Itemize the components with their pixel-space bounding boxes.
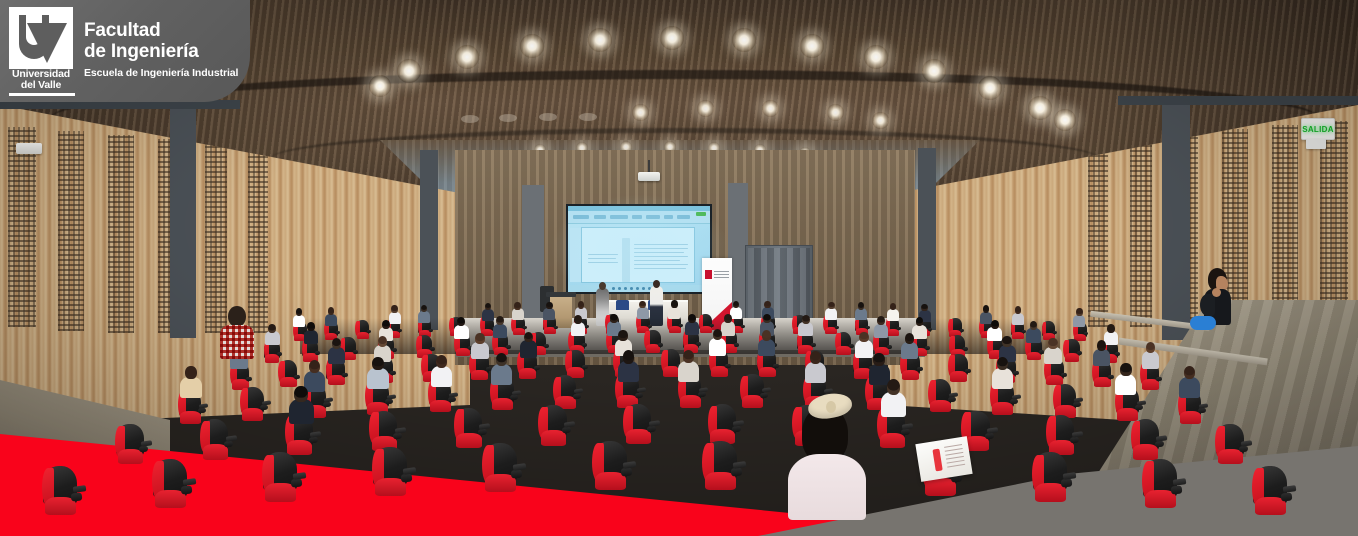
chair-writing-tablet (324, 397, 334, 402)
chair-writing-tablet (1011, 395, 1021, 400)
audience-member-torso (482, 309, 494, 321)
chair-writing-tablet (386, 395, 396, 400)
auditorium-chair (699, 314, 712, 334)
chair-arm (887, 345, 893, 349)
auditorium-chair (241, 387, 264, 422)
audience-member-torso (678, 361, 699, 382)
auditorium-chair (1064, 339, 1080, 363)
chair-seat (992, 402, 1013, 415)
audience-member-head (610, 314, 618, 323)
chair-seat (626, 429, 651, 444)
chair-arm (554, 325, 559, 328)
exit-sign-label: SALIDA (1302, 125, 1334, 134)
chair-arm (534, 366, 541, 371)
chair-arm (773, 364, 780, 369)
chair-arm (367, 330, 372, 333)
ceiling-lamp (978, 76, 1002, 100)
audience-member-head (309, 360, 320, 373)
chair-writing-tablet (1241, 440, 1252, 446)
audience-member-head (858, 302, 865, 310)
acoustic-panel (1130, 137, 1152, 327)
attendee-hand (1212, 288, 1221, 297)
chair-arm (1061, 479, 1073, 488)
audience-member-torso (491, 364, 512, 385)
attendee-legs (1190, 316, 1216, 330)
chair-arm (308, 436, 318, 443)
audience-member-torso (512, 308, 524, 320)
auditorium-chair (483, 443, 516, 494)
chair-arm (731, 467, 743, 476)
univalle-uv-logo-icon: Universidad del Valle (5, 7, 79, 95)
chair-arm (1010, 399, 1018, 405)
auditorium-chair (703, 441, 736, 492)
audience-member-head (496, 316, 504, 325)
audience-member-torso (874, 324, 888, 338)
banner-logo-icon (705, 270, 712, 279)
attendee-head (228, 306, 246, 327)
logo-v-shape (27, 23, 67, 63)
auditorium-chair (709, 404, 736, 446)
audience-member-head (496, 353, 507, 366)
audience-member-head (307, 322, 315, 331)
audience-member-head (1048, 338, 1057, 349)
chair-seat (669, 326, 681, 333)
chair-writing-tablet (733, 461, 747, 468)
ceiling-lamp (588, 28, 612, 52)
audience-member-head (1015, 306, 1022, 314)
audience-member-head (623, 350, 634, 363)
acoustic-panel (1320, 121, 1348, 329)
chair-writing-tablet (310, 431, 321, 437)
auditorium-chair (43, 466, 76, 517)
audience-member-head (1076, 308, 1083, 316)
chair-arm (866, 326, 871, 329)
audience-member-torso (637, 307, 649, 319)
chair-seat (680, 395, 701, 408)
chair-writing-tablet (449, 392, 459, 397)
audience-member-head (764, 301, 771, 309)
chair-arm (477, 429, 487, 436)
ceiling-vent (579, 113, 597, 121)
audience-member-torso (304, 330, 318, 344)
chair-arm (928, 327, 933, 330)
audience-member-torso (328, 347, 345, 364)
audience-member-head (983, 305, 990, 313)
chair-arm (291, 479, 303, 488)
audience-member-head (618, 330, 627, 341)
chair-writing-tablet (1136, 400, 1146, 405)
audience-member-torso (571, 322, 585, 336)
ceiling-lamp (455, 45, 479, 69)
chair-arm (635, 392, 643, 398)
chair-arm (198, 408, 206, 414)
chair-seat (430, 400, 451, 413)
audience-member-torso (1026, 328, 1040, 342)
audience-member-head (372, 357, 383, 370)
chair-writing-tablet (733, 420, 744, 426)
audience-member-head (185, 366, 196, 379)
audience-member-head (294, 386, 308, 402)
projected-sidebar (570, 228, 581, 282)
auditorium-chair (539, 405, 566, 447)
chair-arm (573, 393, 581, 399)
auditorium-chair (741, 374, 764, 409)
audience-member-head (382, 320, 390, 329)
audience-member-torso (293, 315, 305, 327)
chair-arm (760, 392, 768, 398)
audience-member-head (873, 353, 884, 366)
audience-member-head (763, 314, 771, 323)
logo-square (9, 7, 73, 69)
audience-member-torso (881, 392, 906, 417)
chair-seat (902, 370, 919, 380)
acoustic-panel (1272, 125, 1298, 329)
audience-member-torso (289, 399, 314, 424)
chair-arm (1073, 402, 1081, 408)
chair-writing-tablet (261, 400, 271, 405)
auditorium-chair (1047, 415, 1074, 457)
chair-writing-tablet (403, 467, 417, 474)
auditorium-chair (1132, 419, 1159, 461)
chair-arm (963, 347, 969, 351)
chair-writing-tablet (513, 463, 527, 470)
audience-member-torso (855, 308, 867, 320)
audience-member-head (1002, 336, 1011, 347)
auditorium-chair (116, 424, 143, 466)
auditorium-chair (455, 408, 482, 450)
ceiling-lamp (632, 104, 649, 121)
auditorium-chair (1253, 466, 1286, 517)
exit-sign: SALIDA (1301, 118, 1335, 140)
projection-screen-surface (568, 206, 710, 292)
attendee-with-hair-bow (782, 392, 872, 522)
audience-member-head (887, 379, 901, 395)
chair-arm (1053, 331, 1058, 334)
ceiling-lamp (1054, 109, 1076, 131)
audience-member-head (378, 336, 387, 347)
chair-arm (315, 351, 321, 355)
audience-member-torso (825, 308, 837, 320)
chair-arm (511, 469, 523, 478)
chair-arm (731, 426, 741, 433)
chair-arm (1239, 445, 1249, 452)
ceiling-lamp (660, 26, 684, 50)
audience-member-head (802, 315, 810, 324)
audience-member-torso (520, 340, 537, 357)
chair-writing-tablet (394, 427, 405, 433)
chair-arm (506, 345, 512, 349)
chair-arm (1154, 441, 1164, 448)
audience-member-torso (1179, 377, 1200, 398)
audience-member-head (1146, 342, 1155, 353)
chair-arm (181, 485, 193, 494)
chair-seat (519, 368, 536, 378)
chair-arm (398, 329, 403, 332)
chair-arm (294, 375, 301, 380)
audience-member-torso (869, 364, 890, 385)
auditorium-chair (645, 330, 661, 354)
chair-arm (260, 405, 268, 411)
ceiling-lamp (732, 28, 756, 52)
audience-member-torso (987, 327, 1001, 341)
audience-member-torso (758, 339, 775, 356)
audience-member-head (1030, 321, 1038, 330)
ceiling-lamp (397, 59, 421, 83)
audience-member-torso (180, 377, 201, 398)
chair-arm (562, 427, 572, 434)
chair-arm (741, 324, 746, 327)
audience-member-head (296, 308, 303, 316)
auditorium-chair (263, 452, 296, 503)
audience-member-head (724, 314, 732, 323)
ceiling-lamp (369, 75, 391, 97)
university-name-line2: del Valle (5, 80, 77, 91)
chair-arm (581, 365, 588, 370)
chair-seat (180, 411, 201, 424)
auditorium-chair (836, 332, 852, 356)
audience-member-head (905, 333, 914, 344)
chair-writing-tablet (648, 420, 659, 426)
auditorium-chair (201, 419, 228, 461)
audience-member-head (457, 317, 465, 326)
chair-arm (848, 344, 854, 348)
audience-member-torso (543, 308, 555, 320)
ceiling-lamp (762, 100, 779, 117)
audience-member-torso (325, 314, 337, 326)
chair-writing-tablet (1074, 397, 1084, 402)
audience-member-torso (454, 325, 468, 339)
audience-member-torso (1073, 315, 1085, 327)
audience-member-head (991, 320, 999, 329)
chair-arm (698, 392, 706, 398)
chair-arm (1060, 372, 1067, 377)
audience-member-torso (431, 366, 452, 387)
audience-member-head (733, 301, 740, 309)
audience-member-head (391, 305, 398, 313)
chair-arm (959, 328, 964, 331)
chair-arm (585, 325, 590, 328)
faculty-title-line1: Facultad (84, 20, 238, 41)
audience-member-head (1097, 340, 1106, 351)
ceiling-lamp (1028, 96, 1052, 120)
seated-attendee-right-aisle (1196, 268, 1236, 348)
chair-arm (810, 343, 816, 347)
chair-writing-tablet (225, 435, 236, 441)
audience-member-torso (805, 362, 826, 383)
audience-member-torso (471, 342, 488, 359)
chair-writing-tablet (1199, 403, 1209, 408)
chair-seat (357, 332, 369, 339)
faculty-header-plaque: Universidad del Valle Facultad de Ingeni… (0, 0, 250, 102)
chair-writing-tablet (141, 440, 152, 446)
chair-arm (835, 325, 840, 328)
school-subtitle: Escuela de Ingeniería Industrial (84, 67, 238, 79)
hair-bow-knot (826, 401, 836, 413)
audience-member-head (997, 357, 1008, 370)
chair-arm (734, 342, 740, 346)
seated-attendee-left-aisle (218, 306, 258, 368)
ceiling-lamp (864, 45, 888, 69)
chair-writing-tablet (564, 421, 575, 427)
audience-member-torso (265, 331, 279, 345)
chair-arm (1171, 485, 1183, 494)
chair-writing-tablet (987, 427, 998, 433)
chair-arm (246, 377, 253, 382)
ceiling-vent (539, 113, 557, 121)
chair-writing-tablet (623, 461, 637, 468)
chair-arm (429, 347, 435, 351)
audience-member-head (828, 302, 835, 310)
projected-ribbon (568, 211, 710, 224)
chair-arm (1012, 370, 1019, 375)
chair-arm (901, 429, 911, 436)
chair-arm (647, 324, 652, 327)
chair-arm (948, 397, 956, 403)
chair-arm (401, 473, 413, 482)
chair-arm (1135, 405, 1143, 411)
chair-arm (429, 328, 434, 331)
audience-member-torso (389, 312, 401, 324)
chair-arm (696, 342, 702, 346)
audience-member-head (574, 315, 582, 324)
audience-member-torso (1093, 349, 1110, 366)
audience-member-head (1107, 324, 1115, 333)
chair-arm (1115, 352, 1121, 356)
audience-member-head (1120, 363, 1131, 376)
auditorium-chair (1143, 459, 1176, 510)
audience-member-torso (618, 361, 639, 382)
ceiling-lamp (697, 100, 714, 117)
chair-seat (1180, 411, 1201, 424)
chair-arm (71, 492, 83, 501)
chair-arm (1281, 492, 1293, 501)
chair-arm (1070, 436, 1080, 443)
banner-text-lines (714, 271, 729, 272)
auditorium-chair (593, 441, 626, 492)
chair-arm (1198, 408, 1206, 414)
ceiling-projector (638, 172, 660, 181)
audience-member-torso (901, 342, 918, 359)
open-notebook (915, 436, 972, 482)
chair-arm (985, 432, 995, 439)
chair-arm (965, 369, 972, 374)
projection-screen (566, 204, 712, 294)
acoustic-panel (8, 127, 36, 327)
auditorium-chair (929, 379, 952, 414)
audience-member-torso (1012, 313, 1024, 325)
faculty-title-line2: de Ingeniería (84, 41, 238, 62)
projected-accent-badge (696, 212, 706, 216)
audience-member-torso (912, 325, 926, 339)
notebook-highlight (932, 449, 942, 472)
audience-member-head (546, 302, 553, 310)
chair-seat (471, 370, 488, 380)
audience-member-head (921, 304, 928, 312)
auditorium-chair (1033, 452, 1066, 503)
audience-member-head (639, 301, 646, 309)
auditorium-chair (153, 459, 186, 510)
audience-member-head (683, 350, 694, 363)
poster-canvas: SALIDA Universidad del Valle Facultad (0, 0, 1358, 536)
chair-arm (679, 324, 684, 327)
audience-member-torso (418, 311, 430, 323)
audience-member-torso (1104, 331, 1118, 345)
audience-member-head (332, 338, 341, 349)
emergency-light-left (16, 143, 42, 154)
wall-ceiling-joint-right (1118, 96, 1358, 105)
chair-arm (647, 426, 657, 433)
emergency-light-right (1306, 139, 1326, 149)
auditorium-chair (373, 447, 406, 498)
podium-monitor (546, 292, 576, 297)
chair-writing-tablet (511, 390, 521, 395)
chair-arm (385, 399, 393, 405)
university-name: Universidad del Valle (5, 69, 77, 90)
audience-member-torso (493, 324, 507, 338)
chair-seat (930, 400, 951, 413)
audience-member-torso (685, 321, 699, 335)
ceiling-lamp (922, 59, 946, 83)
auditorium-chair (624, 404, 651, 446)
auditorium-chair (356, 320, 369, 340)
chair-arm (335, 331, 340, 334)
ceiling-lamp (827, 104, 844, 121)
ceiling-vent (499, 114, 517, 122)
chair-arm (224, 441, 234, 448)
chair-arm (523, 326, 528, 329)
chair-arm (353, 349, 359, 353)
chair-seat (456, 433, 481, 448)
attendee-shoulders (788, 454, 866, 520)
chair-arm (342, 372, 349, 377)
chair-arm (725, 364, 732, 369)
ceiling-lamp (520, 34, 544, 58)
chair-arm (1077, 351, 1083, 355)
auditorium-chair (949, 354, 968, 383)
chair-writing-tablet (949, 392, 959, 397)
audience-member-head (877, 316, 885, 325)
audience-member-head (762, 330, 771, 341)
ceiling-vent (461, 115, 479, 123)
chair-seat (880, 433, 905, 448)
audience-member-torso (1115, 374, 1136, 395)
audience-member-torso (1142, 351, 1159, 368)
audience-member-torso (798, 322, 812, 336)
auditorium-chair (279, 360, 298, 389)
chair-seat (1133, 444, 1158, 459)
projected-document (582, 228, 694, 282)
chair-writing-tablet (199, 403, 209, 408)
audience-member-torso (887, 309, 899, 321)
audience-member-head (671, 300, 678, 308)
audience-member-torso (1044, 347, 1061, 364)
audience-member-head (514, 302, 521, 310)
chair-arm (277, 352, 283, 356)
audience-member-head (436, 355, 447, 368)
audience-member-head (268, 324, 276, 333)
audience-member-torso (668, 307, 680, 319)
ceiling-lamp (800, 34, 824, 58)
chair-writing-tablet (1156, 435, 1167, 441)
audience-member-head (859, 332, 868, 343)
audience-member-torso (367, 368, 388, 389)
chair-arm (323, 402, 331, 408)
projected-taskbar (568, 285, 710, 292)
chair-arm (393, 432, 403, 439)
audience-member-head (328, 307, 335, 315)
auditorium-chair (1216, 424, 1243, 466)
chair-arm (390, 370, 397, 375)
